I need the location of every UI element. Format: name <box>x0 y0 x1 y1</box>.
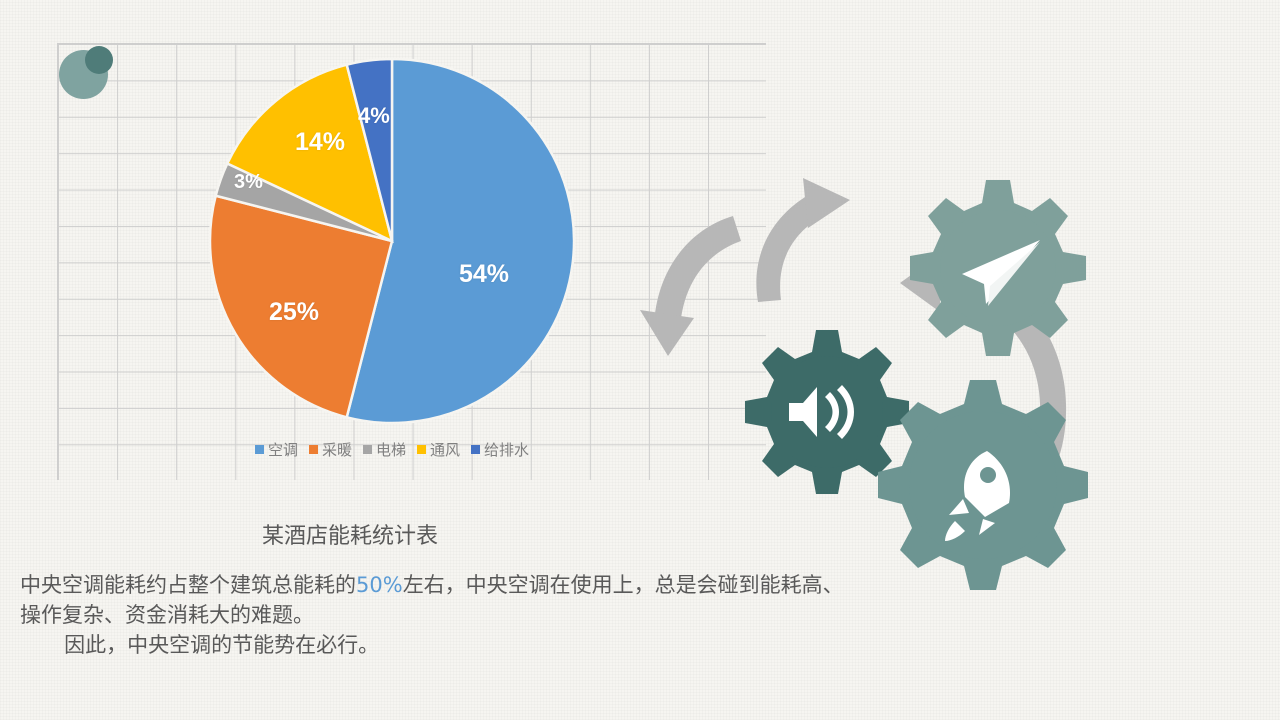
gear-speaker <box>745 330 909 494</box>
legend-item[interactable]: 给排水 <box>471 439 529 460</box>
gears-svg <box>640 150 1280 670</box>
overlapping-circles-logo <box>57 44 117 104</box>
legend-swatch <box>417 445 426 454</box>
pie-chart-svg <box>206 55 578 427</box>
gear-rocket <box>878 380 1088 590</box>
legend-swatch <box>363 445 372 454</box>
legend-swatch <box>255 445 264 454</box>
legend-label: 采暖 <box>322 439 352 460</box>
pie-label-tongfeng: 14% <box>295 128 345 157</box>
pie-chart: 54% 25% 3% 14% 4% <box>206 55 578 427</box>
logo-circle-small <box>85 46 113 74</box>
legend-swatch <box>309 445 318 454</box>
legend-label: 空调 <box>268 439 298 460</box>
body-highlight-50: 50% <box>356 573 403 597</box>
legend-label: 给排水 <box>484 439 529 460</box>
legend-item[interactable]: 采暖 <box>309 439 352 460</box>
legend-label: 通风 <box>430 439 460 460</box>
chart-legend: 空调采暖电梯通风给排水 <box>206 439 578 460</box>
curved-arrow-down-left-icon <box>640 216 741 356</box>
pie-label-cainuan: 25% <box>269 298 319 327</box>
legend-label: 电梯 <box>376 439 406 460</box>
gear-paper-plane <box>910 180 1086 356</box>
curved-arrow-up-icon <box>756 178 850 302</box>
legend-item[interactable]: 空调 <box>255 439 298 460</box>
gears-illustration <box>640 150 1280 670</box>
pie-label-jipaishui: 4% <box>358 103 390 129</box>
legend-item[interactable]: 通风 <box>417 439 460 460</box>
chart-caption: 某酒店能耗统计表 <box>0 518 700 550</box>
slide-canvas: 54% 25% 3% 14% 4% 空调采暖电梯通风给排水 某酒店能耗统计表 中… <box>0 0 1280 720</box>
legend-item[interactable]: 电梯 <box>363 439 406 460</box>
body-line1-part-a: 中央空调能耗约占整个建筑总能耗的 <box>20 573 356 597</box>
legend-swatch <box>471 445 480 454</box>
pie-label-dianti: 3% <box>234 171 263 194</box>
pie-label-kongtiao: 54% <box>459 260 509 289</box>
